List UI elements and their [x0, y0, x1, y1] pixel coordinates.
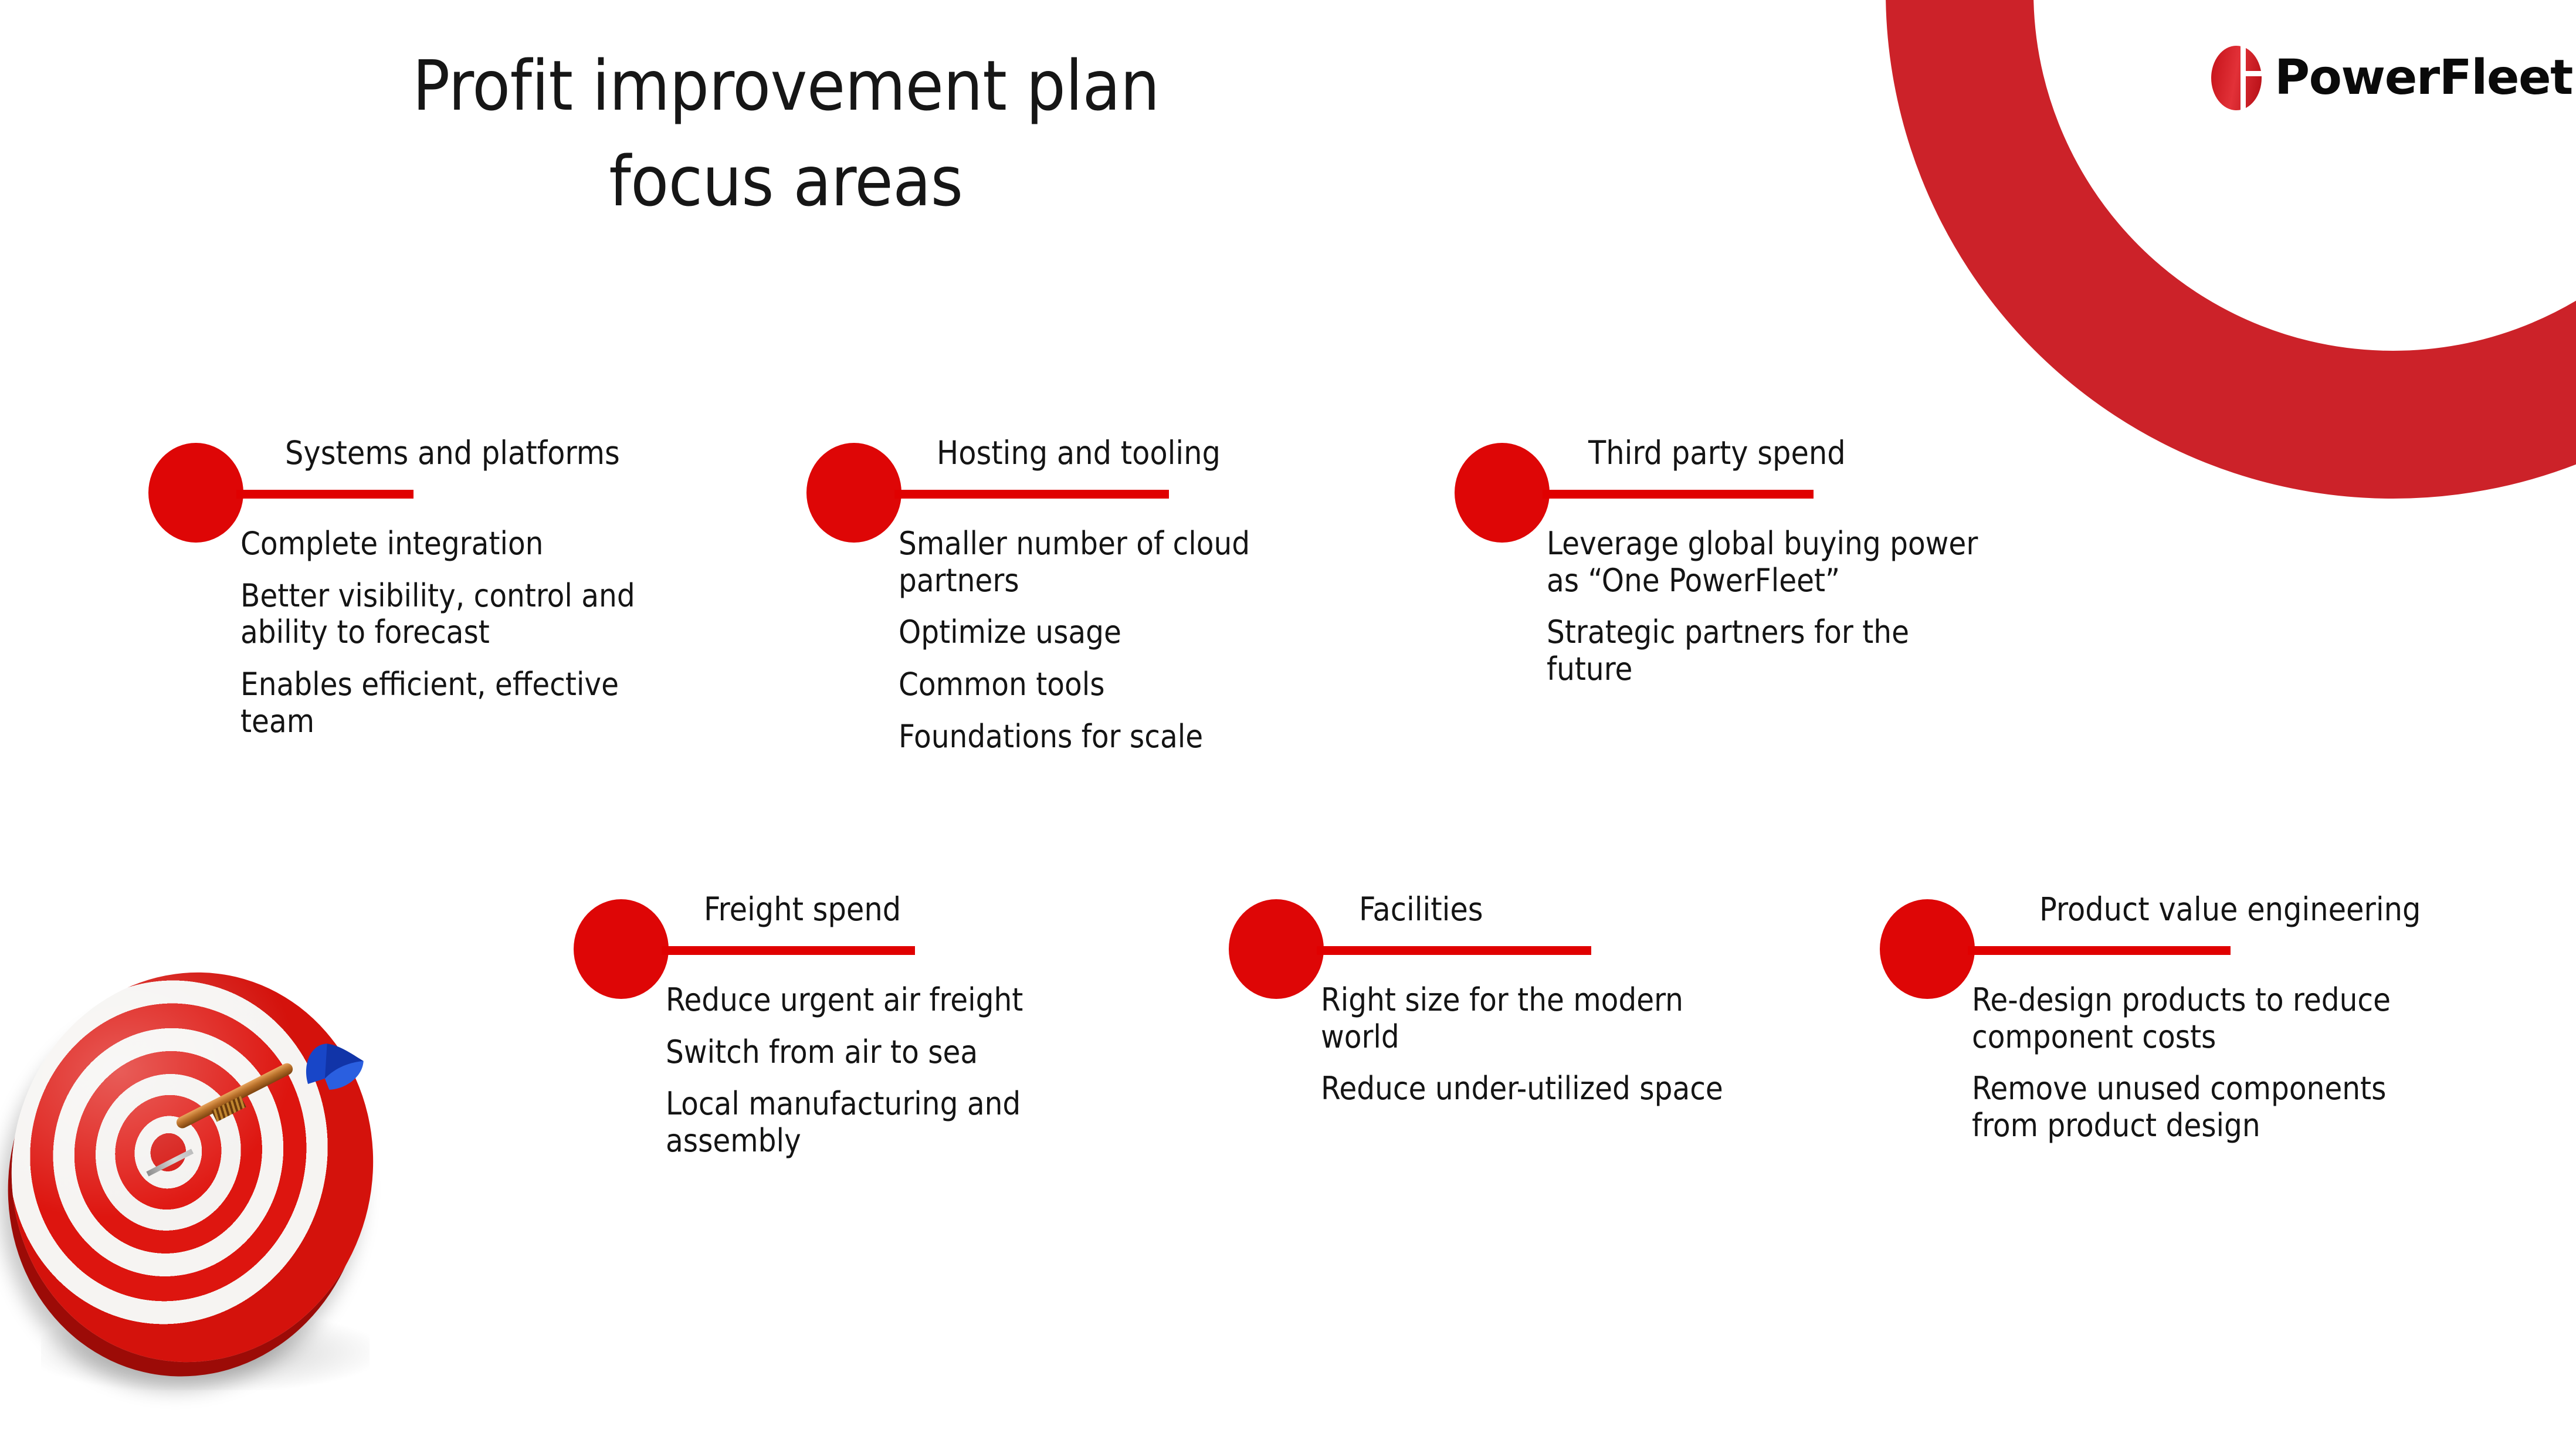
- focus-underline: [236, 490, 413, 499]
- list-item: Re-design products to reduce component c…: [1972, 982, 2418, 1055]
- list-item: Strategic partners for the future: [1547, 614, 1992, 687]
- focus-bullet-circle: [1880, 899, 1975, 999]
- focus-area-third-party-spend: Third party spend Leverage global buying…: [1455, 443, 2070, 830]
- list-item: Local manufacturing and assembly: [666, 1086, 1100, 1159]
- logo-vertical-bar: [2241, 46, 2246, 110]
- dartboard-with-dart: [6, 962, 416, 1396]
- logo-horizontal-bar: [2241, 71, 2264, 76]
- focus-area-points: Right size for the modern world Reduce u…: [1321, 982, 1749, 1107]
- focus-area-title: Product value engineering: [2039, 893, 2421, 926]
- focus-area-title: Freight spend: [704, 893, 901, 926]
- list-item: Remove unused components from product de…: [1972, 1070, 2418, 1144]
- focus-underline: [1543, 490, 1814, 499]
- focus-area-points: Complete integration Better visibility, …: [240, 526, 692, 740]
- focus-area-title: Systems and platforms: [285, 437, 620, 469]
- logo-wordmark: PowerFleet: [2275, 54, 2572, 102]
- focus-area-systems-and-platforms: Systems and platforms Complete integrati…: [148, 443, 794, 830]
- focus-bullet-circle: [574, 899, 669, 999]
- focus-area-points: Smaller number of cloud partners Optimiz…: [899, 526, 1333, 755]
- focus-area-hosting-and-tooling: Hosting and tooling Smaller number of cl…: [806, 443, 1422, 830]
- focus-area-points: Re-design products to reduce component c…: [1972, 982, 2418, 1144]
- list-item: Right size for the modern world: [1321, 982, 1749, 1055]
- focus-bullet-circle: [1229, 899, 1324, 999]
- powerfleet-mark-icon: [2211, 46, 2262, 110]
- focus-area-product-value-engineering: Product value engineering Re-design prod…: [1880, 899, 2525, 1286]
- list-item: Foundations for scale: [899, 719, 1333, 756]
- focus-bullet-circle: [1455, 443, 1550, 543]
- list-item: Switch from air to sea: [666, 1034, 1100, 1071]
- focus-area-title: Facilities: [1359, 893, 1483, 926]
- powerfleet-logo: PowerFleet ®: [2211, 46, 2576, 110]
- logo-disc: [2211, 46, 2262, 110]
- list-item: Complete integration: [240, 526, 692, 563]
- slide-canvas: Profit improvement plan focus areas Powe…: [0, 0, 2576, 1450]
- focus-area-freight-spend: Freight spend Reduce urgent air freight …: [574, 899, 1189, 1286]
- list-item: Common tools: [899, 666, 1333, 703]
- focus-underline: [1317, 946, 1591, 955]
- focus-area-title: Hosting and tooling: [937, 437, 1221, 469]
- focus-area-points: Leverage global buying power as “One Pow…: [1547, 526, 1992, 688]
- list-item: Better visibility, control and ability t…: [240, 578, 692, 651]
- focus-bullet-circle: [148, 443, 243, 543]
- dart-flight-icon: [294, 1031, 371, 1099]
- page-title: Profit improvement plan focus areas: [211, 38, 1361, 229]
- focus-area-facilities: Facilities Right size for the modern wor…: [1229, 899, 1845, 1286]
- list-item: Smaller number of cloud partners: [899, 526, 1333, 599]
- list-item: Reduce under-utilized space: [1321, 1070, 1749, 1107]
- focus-underline: [662, 946, 915, 955]
- focus-bullet-circle: [806, 443, 901, 543]
- list-item: Enables efficient, effective team: [240, 666, 692, 740]
- focus-underline: [1968, 946, 2231, 955]
- focus-area-title: Third party spend: [1588, 437, 1846, 469]
- list-item: Optimize usage: [899, 614, 1333, 651]
- focus-area-points: Reduce urgent air freight Switch from ai…: [666, 982, 1100, 1160]
- list-item: Reduce urgent air freight: [666, 982, 1100, 1019]
- list-item: Leverage global buying power as “One Pow…: [1547, 526, 1992, 599]
- focus-underline: [894, 490, 1169, 499]
